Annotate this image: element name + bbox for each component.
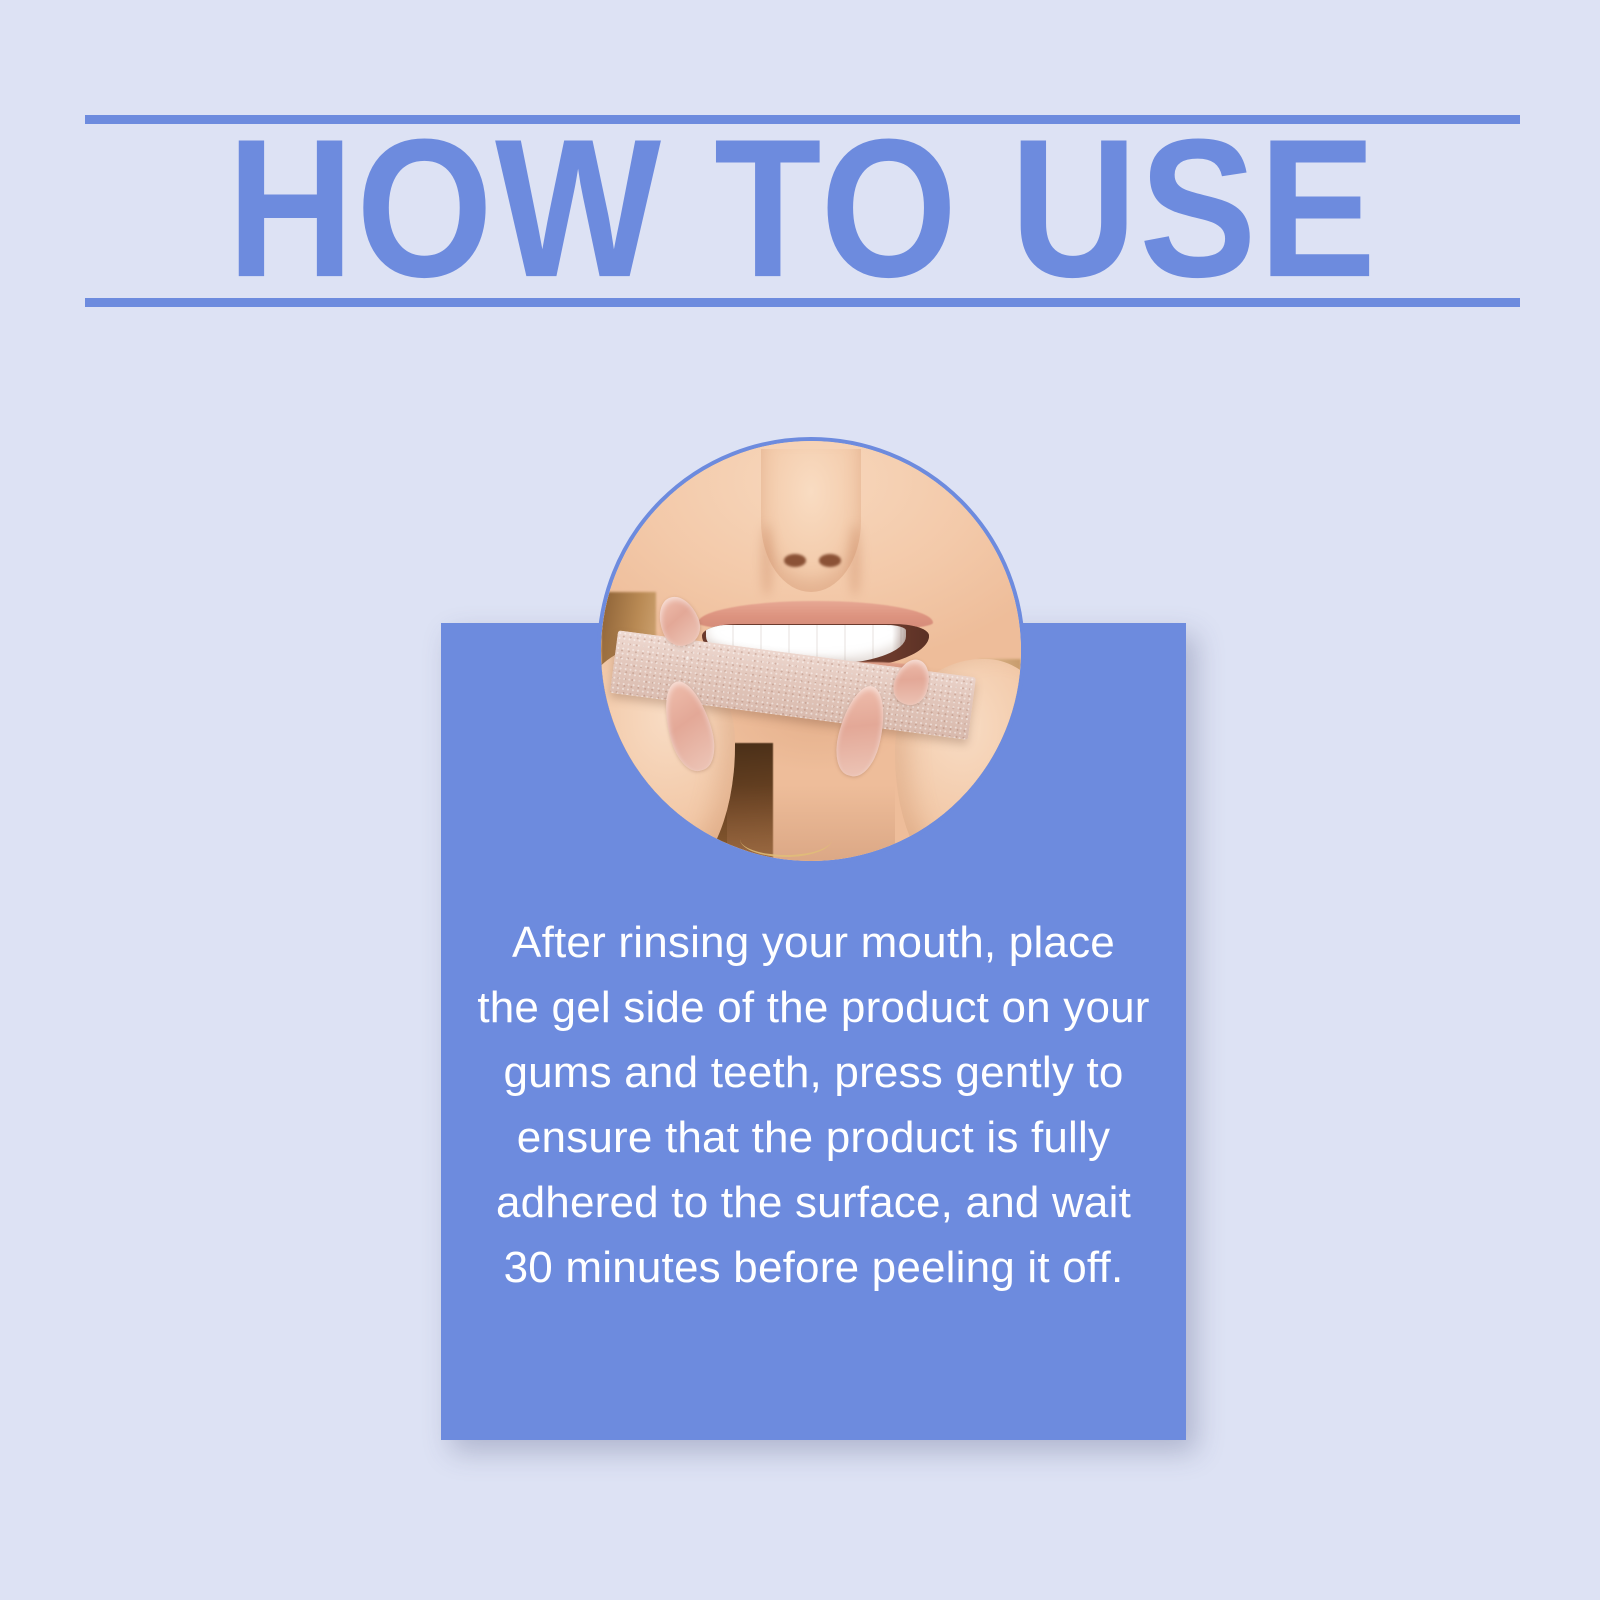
photo-inner bbox=[601, 441, 1021, 861]
page-title: HOW TO USE bbox=[85, 110, 1520, 308]
header: HOW TO USE bbox=[85, 115, 1520, 307]
header-divider-bottom bbox=[85, 298, 1520, 307]
nose-shadow-left bbox=[761, 525, 774, 596]
nostril-left bbox=[784, 554, 806, 567]
instruction-text: After rinsing your mouth, place the gel … bbox=[475, 910, 1152, 1300]
poster-canvas: HOW TO USE After rinsing your mouth, pla… bbox=[0, 0, 1600, 1600]
nose bbox=[761, 449, 862, 592]
necklace bbox=[740, 821, 832, 857]
product-photo bbox=[597, 437, 1025, 865]
